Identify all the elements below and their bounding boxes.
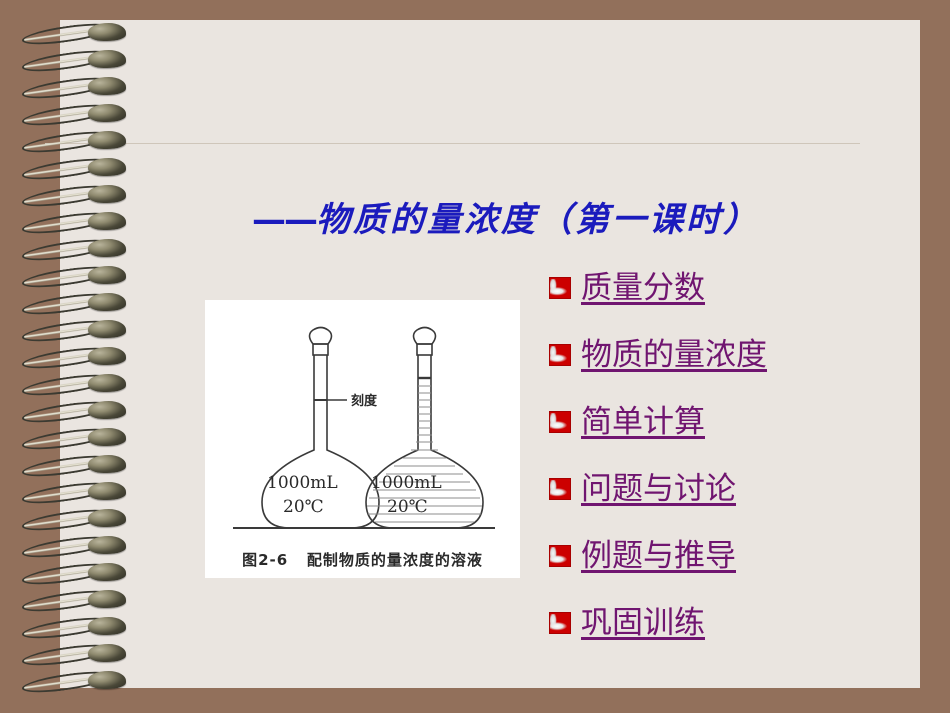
title-em-dash: —— — [252, 200, 316, 240]
figure-caption: 图2-6 配制物质的量浓度的溶液 — [205, 549, 520, 570]
outline-item-label[interactable]: 例题与推导 — [581, 538, 736, 574]
outline-item-label[interactable]: 物质的量浓度 — [581, 337, 767, 373]
label-volume-left: 1000mL — [267, 473, 338, 493]
outline-item[interactable]: 简单计算 — [549, 400, 929, 444]
header-divider-line — [45, 143, 860, 144]
label-graduation: 刻度 — [351, 393, 378, 409]
figure-caption-text: 配制物质的量浓度的溶液 — [307, 551, 483, 569]
label-volume-right: 1000mL — [371, 473, 442, 493]
flask-illustration: 刻度 1000mL 20℃ — [205, 300, 520, 578]
outline-item[interactable]: 例题与推导 — [549, 534, 929, 578]
red-square-bullet-icon — [549, 277, 571, 299]
red-square-bullet-icon — [549, 411, 571, 433]
outline-item-label[interactable]: 问题与讨论 — [581, 471, 736, 507]
red-square-bullet-icon — [549, 612, 571, 634]
label-temperature-left: 20℃ — [283, 497, 324, 517]
outline-item-label[interactable]: 质量分数 — [581, 270, 705, 306]
figure-image: 刻度 1000mL 20℃ — [205, 300, 520, 578]
red-square-bullet-icon — [549, 344, 571, 366]
outline-item-label[interactable]: 巩固训练 — [581, 605, 705, 641]
figure-caption-number: 图2-6 — [242, 551, 288, 569]
label-temperature-right: 20℃ — [387, 497, 428, 517]
page-title: ——物质的量浓度（第一课时） — [252, 192, 760, 241]
presentation-slide: ——物质的量浓度（第一课时） 刻度 1000mL 20℃ — [0, 0, 950, 713]
red-square-bullet-icon — [549, 545, 571, 567]
outline-item[interactable]: 巩固训练 — [549, 601, 929, 645]
outline-item[interactable]: 问题与讨论 — [549, 467, 929, 511]
outline-item[interactable]: 物质的量浓度 — [549, 333, 929, 377]
title-text: 物质的量浓度（第一课时） — [316, 200, 760, 240]
outline-item[interactable]: 质量分数 — [549, 266, 929, 310]
outline-list: 质量分数物质的量浓度简单计算问题与讨论例题与推导巩固训练 — [549, 266, 929, 668]
red-square-bullet-icon — [549, 478, 571, 500]
outline-item-label[interactable]: 简单计算 — [581, 404, 705, 440]
